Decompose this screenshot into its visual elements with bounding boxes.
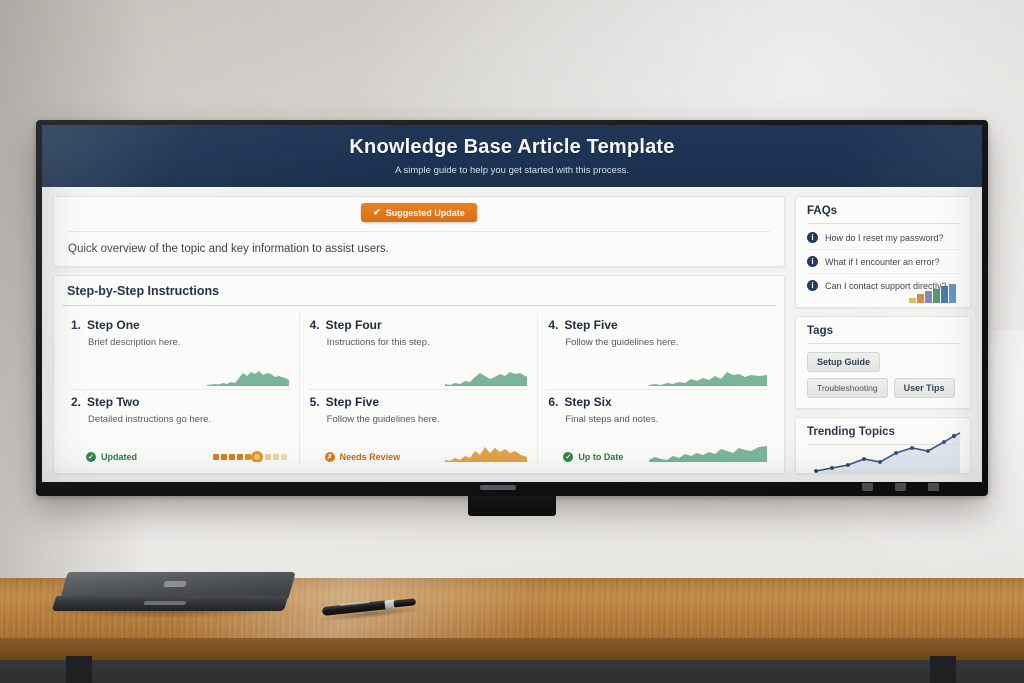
step-number: 2. <box>71 395 81 409</box>
steps-grid: 1. Step One Brief description here. <box>54 306 784 473</box>
status-badge: ✗ Needs Review <box>325 452 401 462</box>
step-header: 5. Step Five <box>310 395 528 409</box>
step-description: Instructions for this step. <box>310 332 528 348</box>
status-label: Updated <box>101 452 137 462</box>
tag-chip[interactable]: Troubleshooting <box>807 378 888 398</box>
tv-brand-logo <box>480 485 516 490</box>
status-badge: ✓ Up to Date <box>563 452 623 462</box>
step-number: 1. <box>71 318 81 332</box>
divider <box>807 343 959 344</box>
steps-card: Step-by-Step Instructions 1. Step One <box>53 275 785 474</box>
laptop-logo <box>163 581 187 587</box>
desk-edge <box>0 638 1024 660</box>
laptop <box>52 572 292 612</box>
step-number: 5. <box>310 395 320 409</box>
step-footer <box>548 369 767 386</box>
step-number: 4. <box>548 318 558 332</box>
tv-screen: Knowledge Base Article Template A simple… <box>42 125 982 482</box>
step-card[interactable]: 4. Step Five Follow the guidelines here. <box>546 313 769 389</box>
sparkline-chart <box>445 369 527 386</box>
app-body: ✔ Suggested Update Quick overview of the… <box>42 187 982 482</box>
step-description: Follow the guidelines here. <box>548 332 767 348</box>
faqs-card: FAQs i How do I reset my password? i Wha… <box>795 196 971 308</box>
laptop-latch <box>143 601 186 605</box>
step-header: 4. Step Five <box>548 318 767 332</box>
steps-column: 1. Step One Brief description here. <box>61 313 300 465</box>
pen-tip <box>394 598 417 607</box>
tv-bezel-controls <box>862 481 972 493</box>
step-number: 4. <box>310 318 320 332</box>
main-column: ✔ Suggested Update Quick overview of the… <box>53 196 785 474</box>
check-circle-icon: ✓ <box>563 452 573 462</box>
step-card[interactable]: 1. Step One Brief description here. <box>69 313 291 389</box>
step-footer: ✓ Updated <box>71 446 289 462</box>
step-footer <box>310 369 528 386</box>
faq-text: How do I reset my password? <box>825 233 944 243</box>
desk-leg <box>66 656 92 683</box>
info-icon: i <box>807 232 818 243</box>
bezel-icon <box>928 483 939 491</box>
trending-line-chart <box>802 431 962 474</box>
step-footer: ✗ Needs Review <box>310 445 528 462</box>
knowledge-base-app: Knowledge Base Article Template A simple… <box>42 125 982 482</box>
step-description: Final steps and notes. <box>548 409 767 425</box>
sparkline-chart <box>649 445 767 462</box>
bezel-icon <box>895 483 906 491</box>
tag-list: Setup Guide Troubleshooting User Tips <box>807 346 959 398</box>
step-title: Step Four <box>326 318 382 332</box>
television: Knowledge Base Article Template A simple… <box>36 120 988 496</box>
steps-column: 4. Step Five Follow the guidelines here. <box>538 313 777 465</box>
steps-column: 4. Step Four Instructions for this step. <box>300 313 539 465</box>
step-card[interactable]: 5. Step Five Follow the guidelines here.… <box>308 389 530 466</box>
progress-slider[interactable] <box>213 451 289 462</box>
status-label: Needs Review <box>340 452 401 462</box>
faqs-title: FAQs <box>807 205 959 217</box>
step-title: Step One <box>87 318 140 332</box>
sparkline-chart <box>207 369 289 386</box>
room-scene: Knowledge Base Article Template A simple… <box>0 0 1024 683</box>
tags-title: Tags <box>807 325 959 337</box>
status-badge: ✓ Updated <box>86 452 137 462</box>
step-header: 4. Step Four <box>310 318 528 332</box>
alert-circle-icon: ✗ <box>325 452 335 462</box>
page-title: Knowledge Base Article Template <box>349 136 674 159</box>
step-description: Detailed instructions go here. <box>71 409 289 425</box>
sidebar: FAQs i How do I reset my password? i Wha… <box>795 196 971 474</box>
step-header: 1. Step One <box>71 318 289 332</box>
sparkline-chart <box>649 369 767 386</box>
step-card[interactable]: 2. Step Two Detailed instructions go her… <box>69 389 291 466</box>
desk-underside <box>0 660 1024 683</box>
step-description: Follow the guidelines here. <box>310 409 528 425</box>
faq-item[interactable]: i How do I reset my password? <box>807 226 959 250</box>
tag-chip[interactable]: Setup Guide <box>807 352 880 372</box>
summary-card: ✔ Suggested Update Quick overview of the… <box>53 196 785 267</box>
step-title: Step Two <box>87 395 139 409</box>
status-label: Up to Date <box>578 452 623 462</box>
badge-label: Suggested Update <box>386 208 465 218</box>
tags-card: Tags Setup Guide Troubleshooting User Ti… <box>795 316 971 409</box>
trending-topics-card: Trending Topics <box>795 417 971 474</box>
step-description: Brief description here. <box>71 332 289 348</box>
step-header: 2. Step Two <box>71 395 289 409</box>
app-header: Knowledge Base Article Template A simple… <box>42 125 982 187</box>
faq-bar-chart <box>908 283 962 303</box>
check-circle-icon: ✓ <box>86 452 96 462</box>
page-subtitle: A simple guide to help you get started w… <box>395 165 629 176</box>
step-title: Step Six <box>564 395 611 409</box>
desk-leg <box>930 656 956 683</box>
summary-text: Quick overview of the topic and key info… <box>68 232 770 255</box>
steps-section-title: Step-by-Step Instructions <box>54 276 784 305</box>
info-icon: i <box>807 256 818 267</box>
step-title: Step Five <box>564 318 617 332</box>
sparkline-chart <box>445 445 527 462</box>
badge-row: ✔ Suggested Update <box>68 203 770 222</box>
divider <box>807 223 959 224</box>
faq-text: What if I encounter an error? <box>825 257 940 267</box>
faq-item[interactable]: i What if I encounter an error? <box>807 250 959 274</box>
step-card[interactable]: 4. Step Four Instructions for this step. <box>308 313 530 389</box>
step-number: 6. <box>548 395 558 409</box>
check-icon: ✔ <box>373 207 381 218</box>
bezel-icon <box>862 483 873 491</box>
step-footer: ✓ Up to Date <box>548 445 767 462</box>
tag-chip[interactable]: User Tips <box>894 378 955 398</box>
step-card[interactable]: 6. Step Six Final steps and notes. ✓ Up … <box>546 389 769 466</box>
step-footer <box>71 369 289 386</box>
suggested-update-badge[interactable]: ✔ Suggested Update <box>361 203 477 222</box>
step-header: 6. Step Six <box>548 395 767 409</box>
tv-stand <box>468 496 556 516</box>
step-title: Step Five <box>326 395 379 409</box>
info-icon: i <box>807 280 818 291</box>
